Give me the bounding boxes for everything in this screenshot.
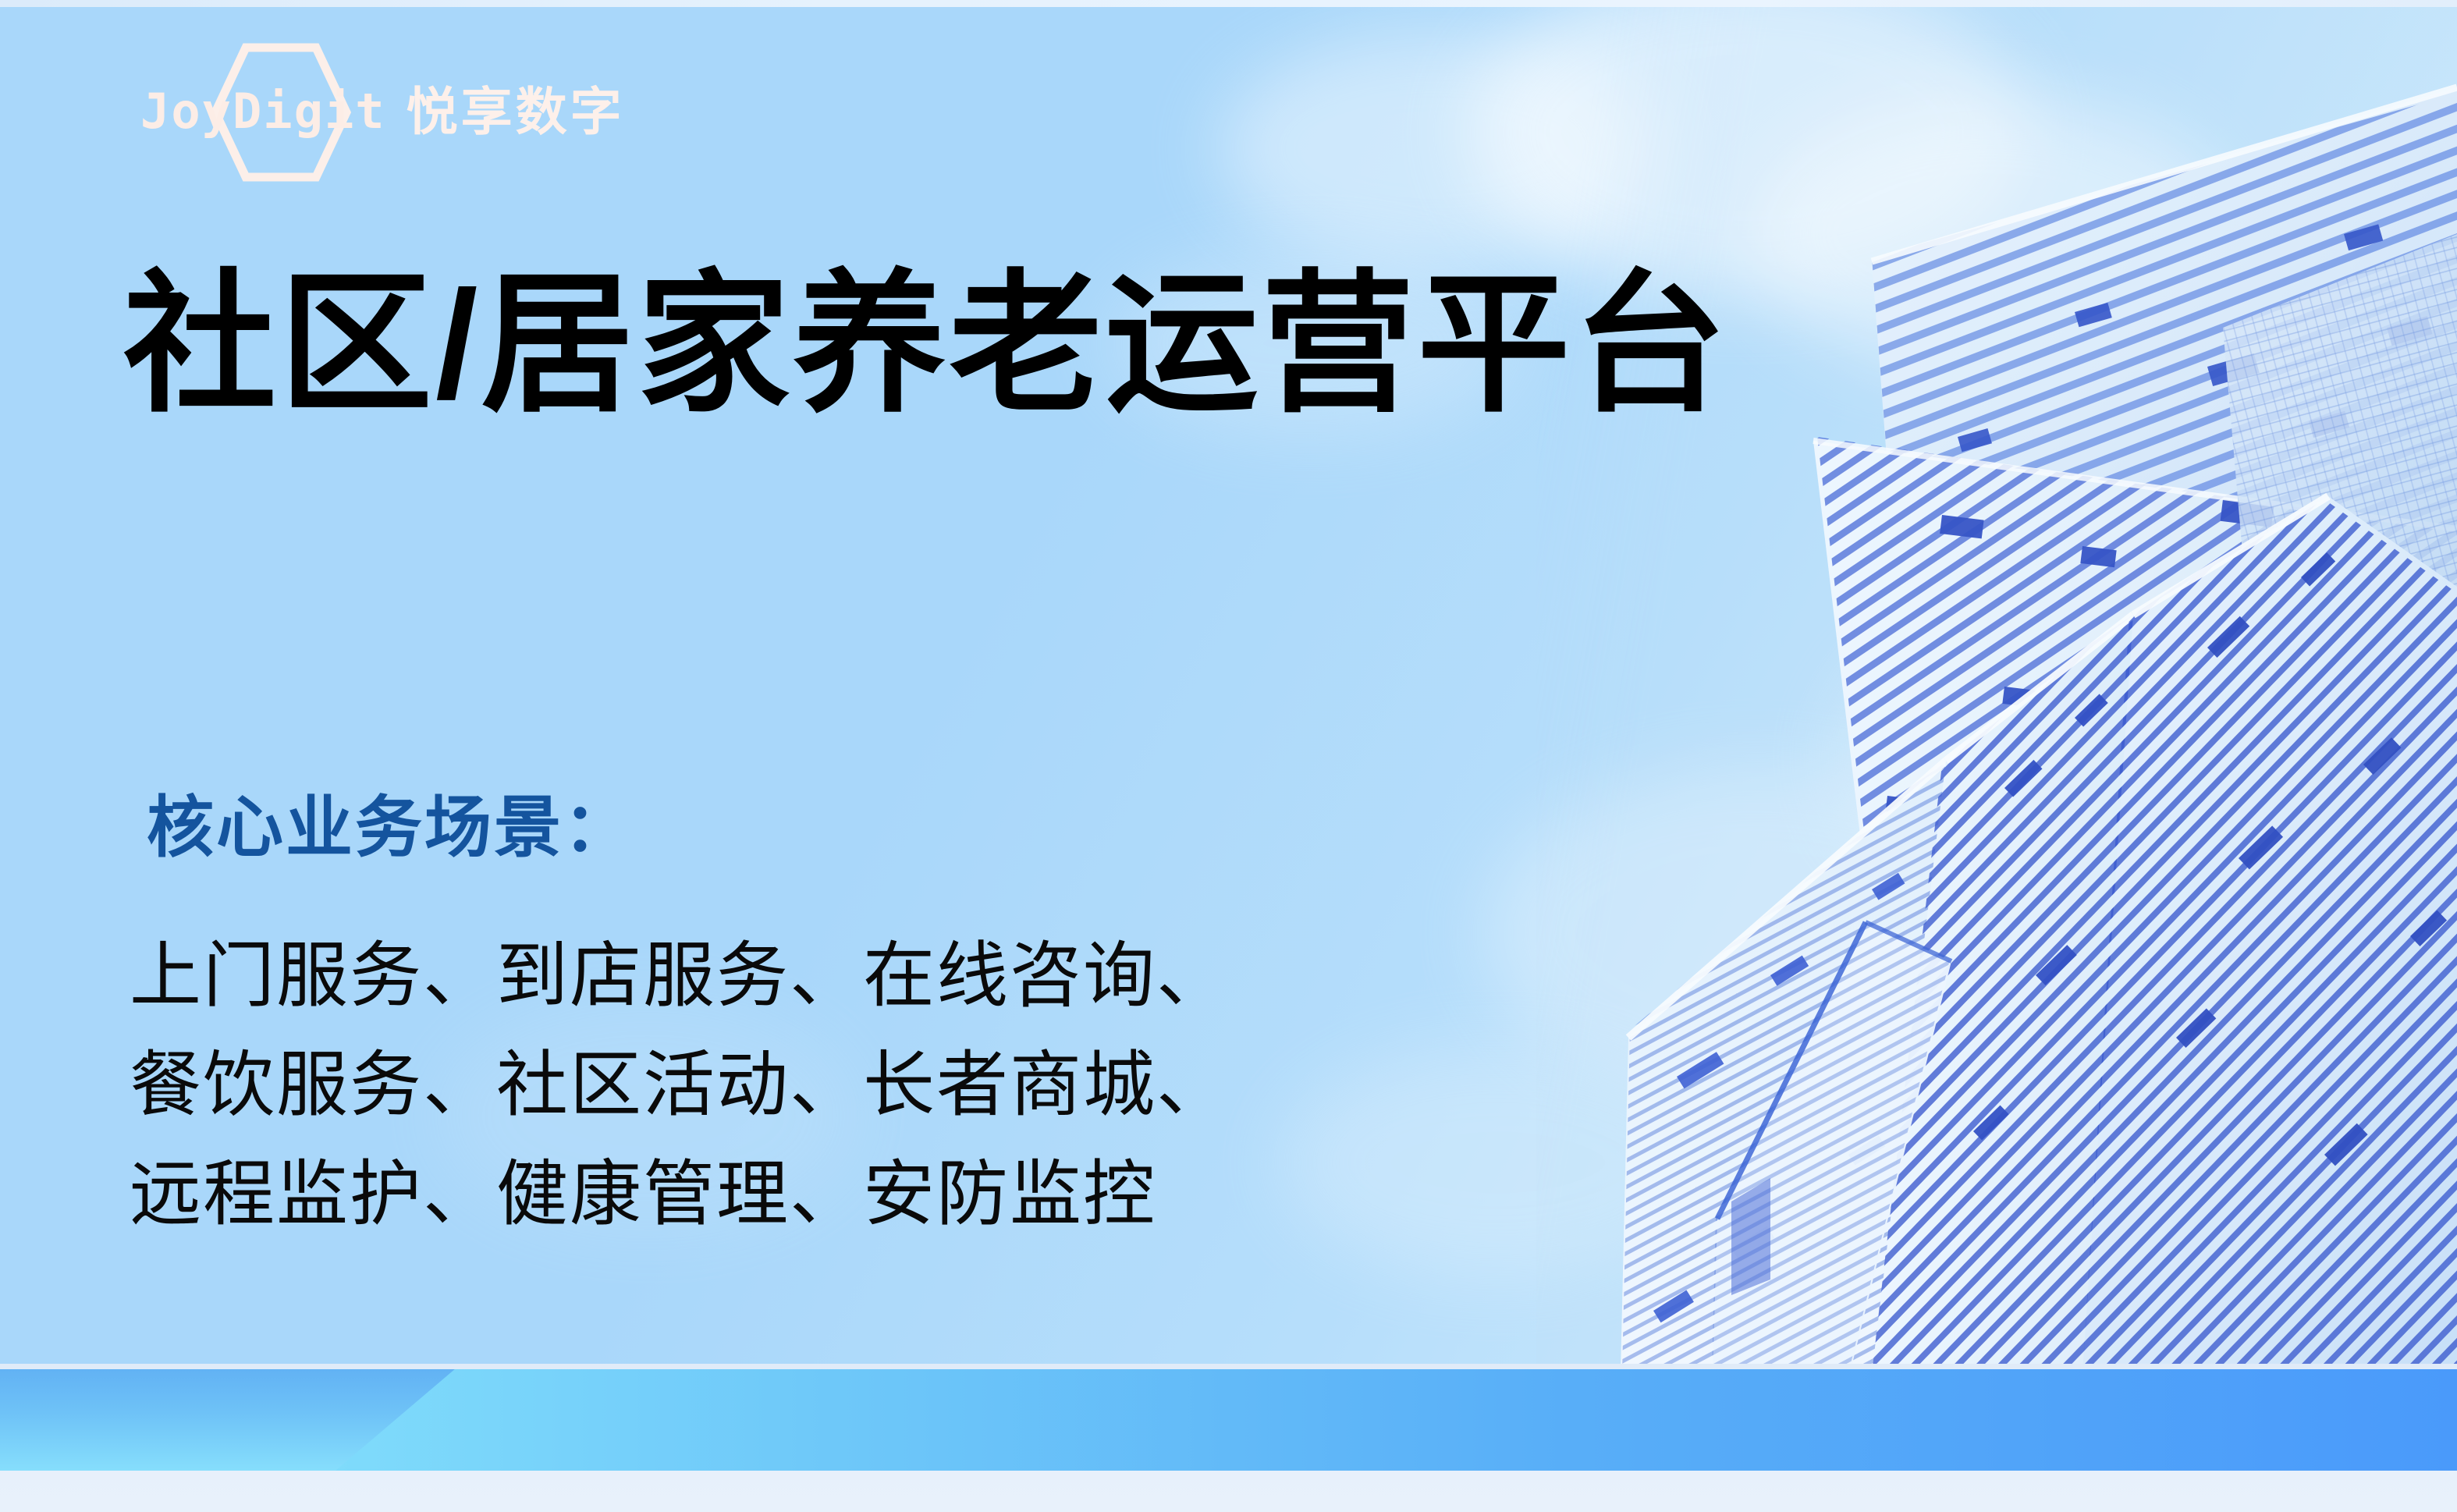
top-accent-strip — [0, 0, 2457, 7]
brand-name-cn: 悦享数字 — [407, 86, 625, 137]
footer-decoration — [0, 1326, 2457, 1512]
scenario-list: 上门服务、到店服务、在线咨询、 餐饮服务、社区活动、长者商城、 远程监护、健康管… — [130, 922, 1230, 1249]
scenario-line: 远程监护、健康管理、安防监控 — [130, 1141, 1230, 1250]
page-title: 社区/居家养老运营平台 — [123, 262, 1729, 428]
brand-logo-text: JoyDigit 悦享数字 — [140, 86, 625, 137]
scenario-line: 上门服务、到店服务、在线咨询、 — [130, 922, 1230, 1031]
brand-name-en: JoyDigit — [140, 87, 386, 136]
slide-canvas: JoyDigit 悦享数字 社区/居家养老运营平台 核心业务场景： 上门服务、到… — [0, 0, 2457, 1512]
brand-logo[interactable]: JoyDigit 悦享数字 — [140, 74, 625, 149]
scenario-line: 餐饮服务、社区活动、长者商城、 — [130, 1031, 1230, 1141]
skyscraper-photo — [1536, 0, 2457, 1373]
section-label: 核心业务场景： — [147, 772, 633, 870]
footer-band-right — [336, 1369, 2457, 1471]
